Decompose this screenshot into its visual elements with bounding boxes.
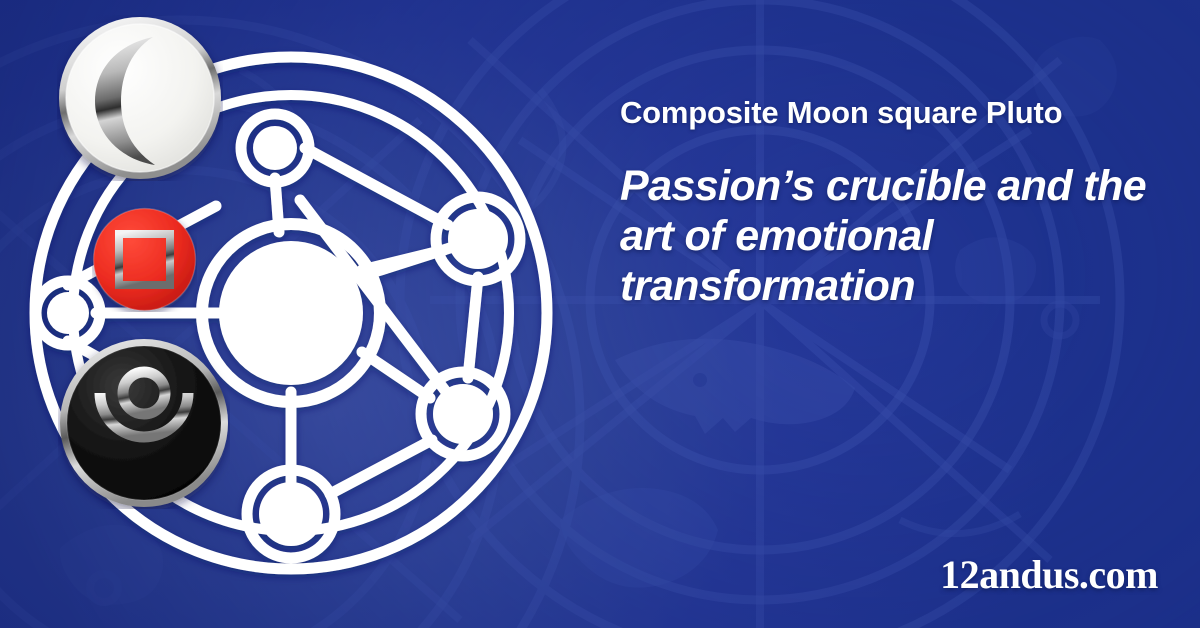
text-block: Composite Moon square Pluto Passion’s cr… (620, 96, 1160, 312)
page-title: Composite Moon square Pluto (620, 96, 1160, 130)
moon-token (57, 15, 223, 181)
pluto-token (58, 337, 230, 509)
brand-wordmark[interactable]: 12andus.com (940, 551, 1158, 598)
social-share-card: Composite Moon square Pluto Passion’s cr… (0, 0, 1200, 628)
page-subtitle: Passion’s crucible and the art of emotio… (620, 130, 1160, 312)
square-aspect-token (92, 207, 197, 312)
